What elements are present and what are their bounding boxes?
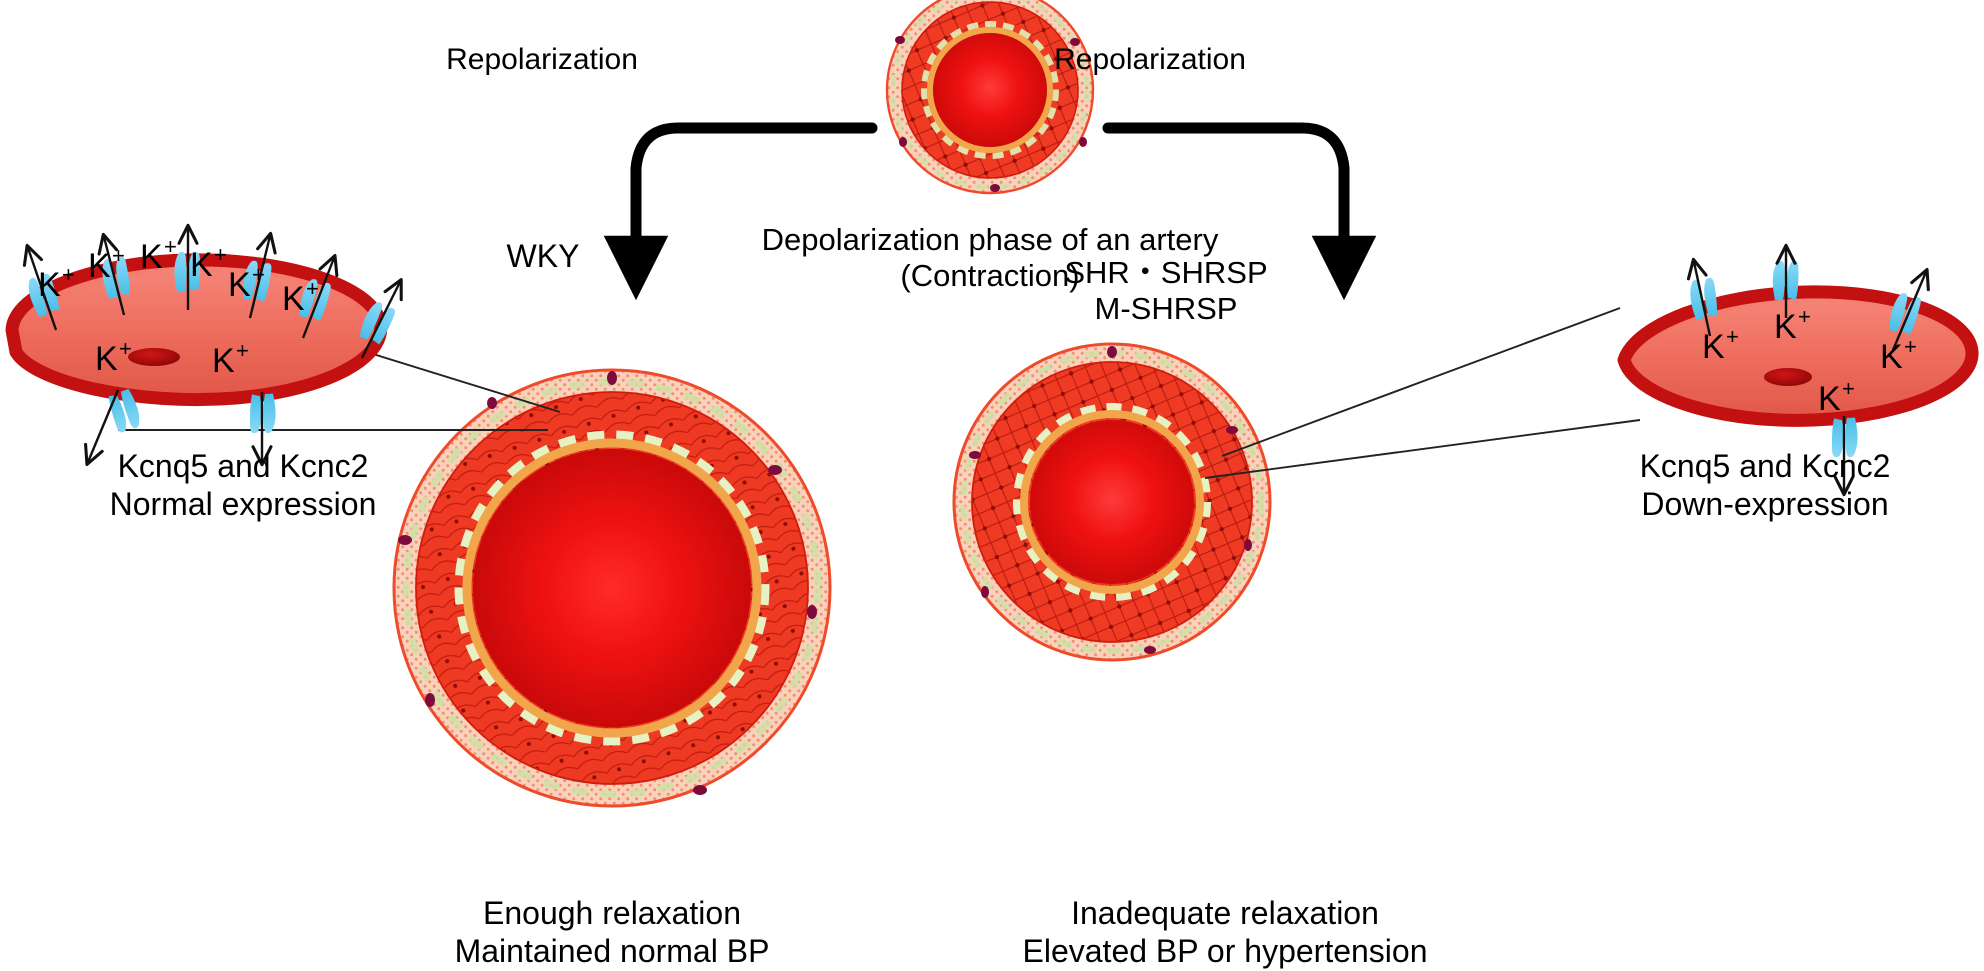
- k-ion-charge: +: [1904, 334, 1917, 359]
- gene-label-right-line1: Kcnq5 and Kcnc2: [1540, 448, 1984, 486]
- k-ion-label: K: [282, 280, 305, 318]
- k-ion-charge: +: [1798, 304, 1811, 329]
- k-ion-label: K: [1880, 338, 1903, 376]
- k-ion-label: K: [1774, 308, 1797, 346]
- k-ion-charge: +: [214, 242, 227, 267]
- k-ion-label: K: [140, 238, 163, 276]
- figure-canvas: K+ K+ K+ K+ K+ K+ K+ K+ K+ K+ K+ K+ Repo…: [0, 0, 1984, 969]
- group-label-m-shrsp: M-SHRSP: [1006, 291, 1326, 328]
- k-ion-charge: +: [1726, 324, 1739, 349]
- outcome-left-line1: Enough relaxation: [312, 895, 912, 933]
- cell-nucleus-right: [1764, 368, 1812, 386]
- k-ion-label: K: [1702, 328, 1725, 366]
- gene-label-left-line2: Normal expression: [18, 486, 468, 524]
- k-ion-label: K: [228, 266, 251, 304]
- k-ion-charge: +: [1842, 376, 1855, 401]
- k-ion-charge: +: [252, 262, 265, 287]
- k-ion-charge: +: [62, 262, 75, 287]
- k-ion-charge: +: [164, 234, 177, 259]
- artery-left-wky-relaxed: [394, 370, 830, 806]
- outcome-left-line2: Maintained normal BP: [312, 933, 912, 971]
- repolarization-label-left: Repolarization: [432, 42, 652, 77]
- artery-right-shr-constricted: [954, 344, 1270, 660]
- k-ion-label: K: [95, 340, 118, 378]
- gene-label-right-line2: Down-expression: [1540, 486, 1984, 524]
- outcome-right-line1: Inadequate relaxation: [885, 895, 1565, 933]
- cell-nucleus-left: [128, 348, 180, 366]
- k-ion-label: K: [212, 342, 235, 380]
- k-ion-label: K: [190, 246, 213, 284]
- k-ion-charge: +: [112, 243, 125, 268]
- group-label-wky: WKY: [438, 238, 648, 276]
- depolarization-caption-line1: Depolarization phase of an artery: [650, 222, 1330, 259]
- repolarization-label-right: Repolarization: [1040, 42, 1260, 77]
- k-ion-charge: +: [236, 338, 249, 363]
- group-label-shr-shrsp: SHR・SHRSP: [1006, 255, 1326, 292]
- gene-label-left-line1: Kcnq5 and Kcnc2: [18, 448, 468, 486]
- artery-top-depolarized: [887, 0, 1093, 193]
- k-ion-label: K: [88, 247, 111, 285]
- k-ion-label: K: [1818, 380, 1841, 418]
- k-ion-charge: +: [306, 276, 319, 301]
- k-ion-label: K: [38, 266, 61, 304]
- outcome-right-line2: Elevated BP or hypertension: [885, 933, 1565, 971]
- k-ion-charge: +: [119, 336, 132, 361]
